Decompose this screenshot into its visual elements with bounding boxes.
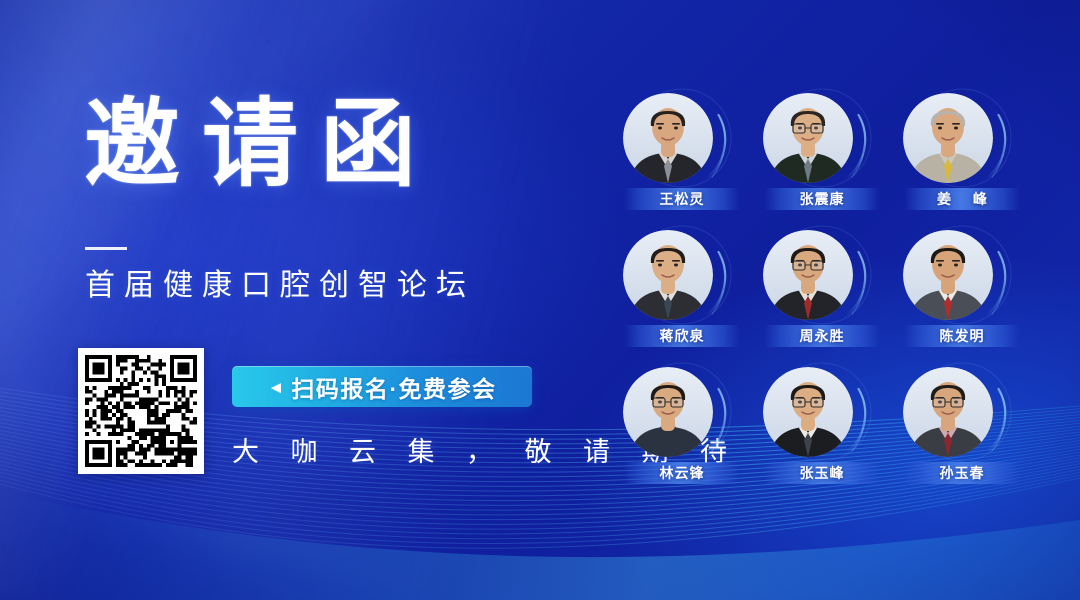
speaker-nameplate: 林云锋 bbox=[624, 462, 740, 484]
speaker-card[interactable]: 王松灵 bbox=[612, 82, 752, 219]
speaker-name: 周永胜 bbox=[800, 326, 845, 346]
speaker-name: 姜 峰 bbox=[928, 189, 996, 209]
avatar bbox=[763, 367, 853, 457]
event-subtitle: 首届健康口腔创智论坛 bbox=[85, 268, 475, 304]
avatar bbox=[623, 230, 713, 320]
avatar bbox=[903, 93, 993, 183]
title-divider bbox=[85, 247, 127, 250]
qr-code-matrix bbox=[85, 355, 197, 467]
page-title: 邀请函 bbox=[84, 97, 438, 193]
speaker-nameplate: 孙玉春 bbox=[904, 462, 1020, 484]
speaker-nameplate: 张震康 bbox=[764, 188, 880, 210]
speaker-card[interactable]: 孙玉春 bbox=[892, 356, 1032, 493]
speaker-name: 蒋欣泉 bbox=[660, 326, 705, 346]
speaker-name: 林云锋 bbox=[660, 463, 705, 483]
speaker-card[interactable]: 姜 峰 bbox=[892, 82, 1032, 219]
avatar bbox=[903, 367, 993, 457]
speaker-card[interactable]: 林云锋 bbox=[612, 356, 752, 493]
speaker-nameplate: 周永胜 bbox=[764, 325, 880, 347]
speaker-card[interactable]: 陈发明 bbox=[892, 219, 1032, 356]
speaker-nameplate: 姜 峰 bbox=[904, 188, 1020, 210]
register-button-label: 扫码报名·免费参会 bbox=[291, 370, 496, 404]
avatar bbox=[623, 93, 713, 183]
speaker-card[interactable]: 张震康 bbox=[752, 82, 892, 219]
speaker-nameplate: 蒋欣泉 bbox=[624, 325, 740, 347]
speaker-name: 王松灵 bbox=[660, 189, 705, 209]
speaker-nameplate: 张玉峰 bbox=[764, 462, 880, 484]
speaker-nameplate: 王松灵 bbox=[624, 188, 740, 210]
left-arrow-icon: ◄ bbox=[268, 379, 285, 396]
speaker-card[interactable]: 蒋欣泉 bbox=[612, 219, 752, 356]
speaker-grid: 王松灵 张震康 姜 峰 蒋欣泉 bbox=[612, 82, 1032, 492]
speaker-nameplate: 陈发明 bbox=[904, 325, 1020, 347]
avatar bbox=[763, 93, 853, 183]
avatar bbox=[763, 230, 853, 320]
left-content-column: 邀请函 首届健康口腔创智论坛 ◄ 扫码报名·免费参会 大 咖 云 集 ， 敬 请… bbox=[0, 0, 600, 600]
speaker-card[interactable]: 周永胜 bbox=[752, 219, 892, 356]
speaker-name: 张震康 bbox=[800, 189, 845, 209]
speaker-name: 孙玉春 bbox=[940, 463, 985, 483]
invitation-poster: 邀请函 首届健康口腔创智论坛 ◄ 扫码报名·免费参会 大 咖 云 集 ， 敬 请… bbox=[0, 0, 1080, 600]
qr-code-icon[interactable] bbox=[78, 348, 204, 474]
avatar bbox=[903, 230, 993, 320]
speaker-name: 张玉峰 bbox=[800, 463, 845, 483]
avatar bbox=[623, 367, 713, 457]
register-button[interactable]: ◄ 扫码报名·免费参会 bbox=[232, 366, 532, 407]
speaker-card[interactable]: 张玉峰 bbox=[752, 356, 892, 493]
speaker-name: 陈发明 bbox=[940, 326, 985, 346]
